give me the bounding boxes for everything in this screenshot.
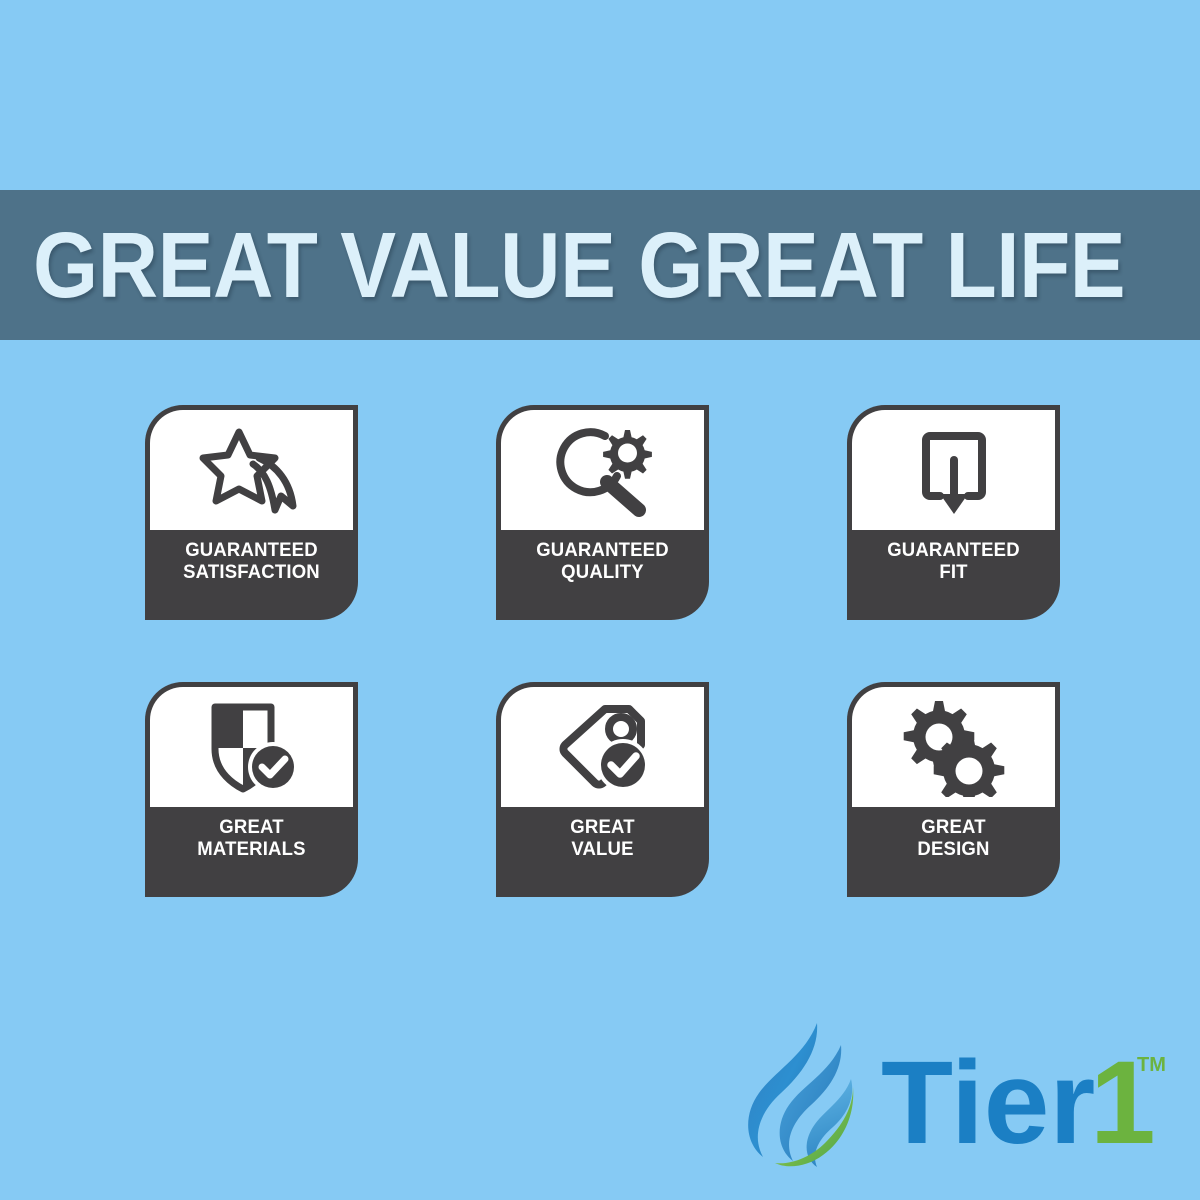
- magnifier-gear-icon: [501, 410, 704, 530]
- badge-great-value[interactable]: GREAT VALUE: [496, 682, 709, 897]
- tag-check-icon: [501, 687, 704, 807]
- badge-label: GUARANTEED SATISFACTION: [150, 540, 352, 584]
- logo-trademark-symbol: TM: [1137, 1054, 1165, 1076]
- headline-banner: GREAT VALUE GREAT LIFE: [0, 190, 1200, 340]
- background-band: [0, 0, 1200, 46]
- page-title: GREAT VALUE GREAT LIFE: [33, 219, 1125, 312]
- tier1-logo: Tier 1 TM: [705, 1015, 1165, 1175]
- badge-label: GREAT VALUE: [501, 817, 703, 861]
- insert-arrow-icon: [852, 410, 1055, 530]
- two-gears-icon: [852, 687, 1055, 807]
- logo-droplet-mark: [748, 1023, 853, 1167]
- shield-check-icon: [150, 687, 353, 807]
- badge-label: GUARANTEED FIT: [852, 540, 1054, 584]
- promo-graphic: GREAT VALUE GREAT LIFE GUARANTEED SATISF…: [0, 0, 1200, 1200]
- logo-wordmark-tier: Tier: [881, 1037, 1095, 1169]
- badge-guaranteed-quality[interactable]: GUARANTEED QUALITY: [496, 405, 709, 620]
- badge-guaranteed-fit[interactable]: GUARANTEED FIT: [847, 405, 1060, 620]
- badge-label: GUARANTEED QUALITY: [501, 540, 703, 584]
- badge-label: GREAT DESIGN: [852, 817, 1054, 861]
- badge-great-design[interactable]: GREAT DESIGN: [847, 682, 1060, 897]
- badge-guaranteed-satisfaction[interactable]: GUARANTEED SATISFACTION: [145, 405, 358, 620]
- badge-label: GREAT MATERIALS: [150, 817, 352, 861]
- shooting-star-icon: [150, 410, 353, 530]
- feature-badge-grid: GUARANTEED SATISFACTION GU: [145, 405, 1060, 897]
- badge-great-materials[interactable]: GREAT MATERIALS: [145, 682, 358, 897]
